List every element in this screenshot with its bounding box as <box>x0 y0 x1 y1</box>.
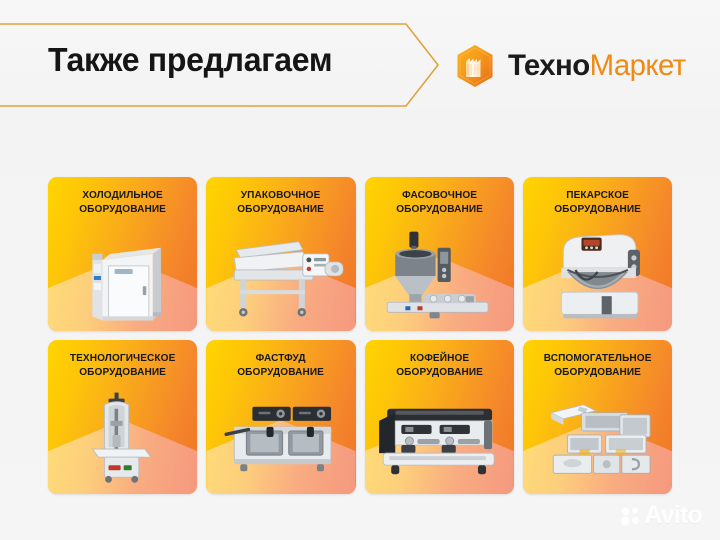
hexagon-building-logo-icon <box>452 43 498 89</box>
tile-label: УПАКОВОЧНОЕ ОБОРУДОВАНИЕ <box>215 188 347 216</box>
tile-label-line2: ОБОРУДОВАНИЕ <box>57 202 189 216</box>
tile-label-line1: УПАКОВОЧНОЕ <box>215 188 347 202</box>
tile-label-line1: ПЕКАРСКОЕ <box>531 188 663 202</box>
category-tile-filling[interactable]: ФАСОВОЧНОЕ ОБОРУДОВАНИЕ <box>365 177 514 331</box>
filling-dosing-machine-icon <box>365 225 514 327</box>
brand-name-market: Маркет <box>590 49 686 82</box>
page-background: Также предлагаем <box>0 0 720 540</box>
gastronorm-pans-stack-icon <box>523 388 672 490</box>
tile-label-line2: ОБОРУДОВАНИЕ <box>373 202 505 216</box>
tile-label-line1: ФАСОВОЧНОЕ <box>373 188 505 202</box>
category-tile-technological[interactable]: ТЕХНОЛОГИЧЕСКОЕ ОБОРУДОВАНИЕ <box>48 340 197 494</box>
category-tile-refrigeration[interactable]: ХОЛОДИЛЬНОЕ ОБОРУДОВАНИЕ <box>48 177 197 331</box>
tile-label-line2: ОБОРУДОВАНИЕ <box>57 365 189 379</box>
category-tile-auxiliary[interactable]: ВСПОМОГАТЕЛЬНОЕ ОБОРУДОВАНИЕ <box>523 340 672 494</box>
band-saw-bone-cutter-icon <box>48 388 197 490</box>
tile-label-line2: ОБОРУДОВАНИЕ <box>215 202 347 216</box>
brand-lockup[interactable]: ТехноМаркет <box>452 40 689 92</box>
tile-label: ФАСОВОЧНОЕ ОБОРУДОВАНИЕ <box>373 188 505 216</box>
category-tile-packaging[interactable]: УПАКОВОЧНОЕ ОБОРУДОВАНИЕ <box>206 177 355 331</box>
avito-dots-icon <box>620 506 640 526</box>
category-tile-coffee[interactable]: КОФЕЙНОЕ ОБОРУДОВАНИЕ <box>365 340 514 494</box>
tile-label-line2: ОБОРУДОВАНИЕ <box>531 202 663 216</box>
tile-label-line1: ВСПОМОГАТЕЛЬНОЕ <box>531 351 663 365</box>
tile-label-line2: ОБОРУДОВАНИЕ <box>215 365 347 379</box>
tile-label: ВСПОМОГАТЕЛЬНОЕ ОБОРУДОВАНИЕ <box>531 351 663 379</box>
espresso-coffee-machine-icon <box>365 388 514 490</box>
category-grid: ХОЛОДИЛЬНОЕ ОБОРУДОВАНИЕ <box>48 177 672 494</box>
spiral-dough-mixer-icon <box>523 225 672 327</box>
tile-label-line1: ТЕХНОЛОГИЧЕСКОЕ <box>57 351 189 365</box>
avito-watermark: Avito <box>620 503 702 528</box>
cold-room-chamber-icon <box>48 225 197 327</box>
page-title: Также предлагаем <box>48 41 332 79</box>
category-tile-bakery[interactable]: ПЕКАРСКОЕ ОБОРУДОВАНИЕ <box>523 177 672 331</box>
tile-label: ТЕХНОЛОГИЧЕСКОЕ ОБОРУДОВАНИЕ <box>57 351 189 379</box>
tile-label-line1: ФАСТФУД <box>215 351 347 365</box>
header-banner: Также предлагаем <box>0 22 720 108</box>
tile-label-line2: ОБОРУДОВАНИЕ <box>531 365 663 379</box>
category-tile-fastfood[interactable]: ФАСТФУД ОБОРУДОВАНИЕ <box>206 340 355 494</box>
tile-label: ФАСТФУД ОБОРУДОВАНИЕ <box>215 351 347 379</box>
tile-label-line2: ОБОРУДОВАНИЕ <box>373 365 505 379</box>
tile-label-line1: ХОЛОДИЛЬНОЕ <box>57 188 189 202</box>
tile-label: КОФЕЙНОЕ ОБОРУДОВАНИЕ <box>373 351 505 379</box>
tile-label-line1: КОФЕЙНОЕ <box>373 351 505 365</box>
brand-name-tehno: Техно <box>508 49 590 82</box>
shrink-wrap-packing-machine-icon <box>206 225 355 327</box>
avito-watermark-text: Avito <box>644 503 702 528</box>
double-basket-deep-fryer-icon <box>206 388 355 490</box>
brand-name: ТехноМаркет <box>508 51 686 81</box>
tile-label: ПЕКАРСКОЕ ОБОРУДОВАНИЕ <box>531 188 663 216</box>
tile-label: ХОЛОДИЛЬНОЕ ОБОРУДОВАНИЕ <box>57 188 189 216</box>
